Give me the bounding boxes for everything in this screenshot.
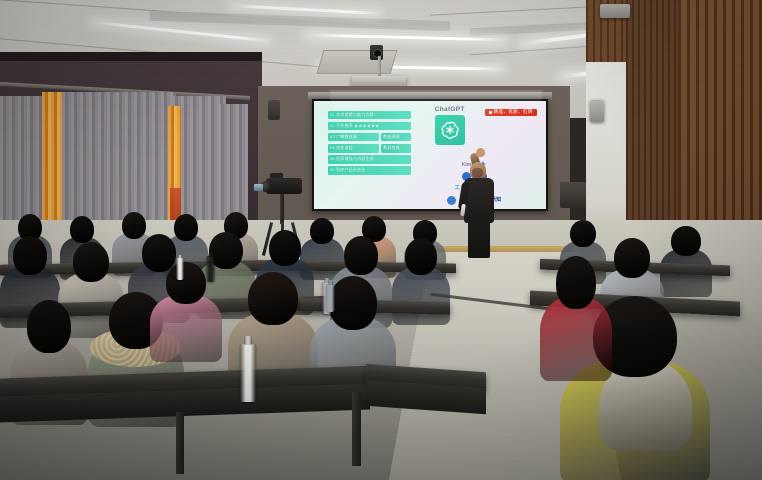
projector-mount-pole [378,56,381,78]
chatgpt-brand-label: ChatGPT [435,106,465,113]
student-coat [150,295,222,362]
slide-bullet-label: 02 写作效率 ★★★★★★ [330,124,379,128]
student-head [73,242,110,282]
slide-bullet-extra: 数据溯源 [381,133,411,142]
slide-bullet: 02 写作效率 ★★★★★★ [328,122,412,131]
slide-bullet-list: 01 技术逻辑与能力边界 ··· 02 写作效率 ★★★★★★ 03 广撒数据源… [328,111,412,175]
slide-brand-block: ChatGPT [421,106,479,145]
student-head [166,262,206,304]
tripod-column [280,194,284,224]
slide-badge-label: 精准、优质、红牌 [494,110,533,115]
slide-bullet-extra: 素材合成 [381,144,411,153]
student-head [556,256,596,309]
student-head [70,216,95,243]
student [540,256,612,376]
student-head [344,236,379,275]
student-head [13,236,47,275]
thermos-bottle [176,258,184,280]
slide-bullet: 03 广撒数据源 [328,133,379,142]
slide-bullet-label: 03 广撒数据源 [330,135,357,139]
wall-speaker-cabinet [560,182,586,208]
student-head [329,276,377,330]
slide-status-badge: 精准、优质、红牌 [485,109,537,117]
thermos-bottle [240,344,256,402]
student-coat [540,297,612,381]
projection-screen: 01 技术逻辑与能力边界 ··· 02 写作效率 ★★★★★★ 03 广撒数据源… [312,99,548,211]
desk-leg [352,392,361,466]
slide-bullet-extra-label: 数据溯源 [383,135,400,139]
left-wall-trim [0,52,262,61]
student-coat [392,267,450,326]
student-head [405,238,437,275]
wall-speaker [590,100,604,122]
student-head [269,230,301,266]
ceiling-camera-icon [370,45,383,60]
student-head [671,226,700,256]
slide-bullet: 05 检索增强与内容生成 ··· [328,155,412,164]
student-head [248,272,298,325]
student [660,226,712,294]
presenter-legs [468,220,490,258]
thermos-bottle [206,256,215,282]
slide-bullet-label: 06 智库产品形态化 ··· [330,168,371,172]
lecture-hall-photo: 01 技术逻辑与能力边界 ··· 02 写作效率 ★★★★★★ 03 广撒数据源… [0,0,762,480]
presenter-face [472,168,483,178]
slide-bullet: 01 技术逻辑与能力边界 ··· [328,111,412,120]
student-head [614,238,650,278]
slide-bullet: 06 智库产品形态化 ··· [328,166,412,175]
slide-bullet-label: 01 技术逻辑与能力边界 ··· [330,113,380,117]
slide-bullet-row: 03 广撒数据源 数据溯源 [328,133,412,142]
presenter-hand [475,147,486,158]
wall-speaker [268,100,280,120]
presenter [452,148,512,258]
thermos-bottle [326,284,335,312]
slide-bullet: 04 创作流程 [328,144,379,153]
slide-bullet-label: 05 检索增强与内容生成 ··· [330,157,380,161]
student-head [27,300,71,353]
wall-speaker [600,4,630,18]
student-head [570,220,596,247]
slide-bullet-label: 04 创作流程 [330,146,353,150]
slide-bullet-row: 04 创作流程 素材合成 [328,144,412,153]
camera-lcd-screen [254,184,263,191]
desk-leg [176,412,184,474]
ceiling-vent [317,50,398,74]
openai-knot-icon [435,115,465,145]
badge-bullet-icon [489,111,492,114]
slide-bullet-extra-label: 素材合成 [383,146,400,150]
